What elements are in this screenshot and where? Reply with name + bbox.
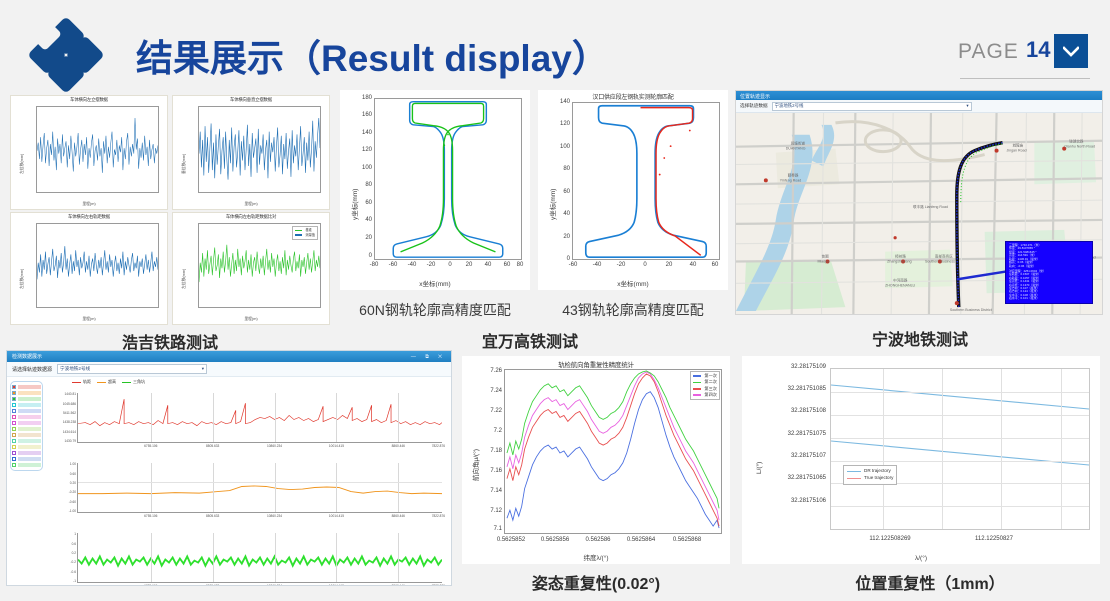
svg-text:钱湖北路: 钱湖北路 xyxy=(1069,139,1084,144)
xtick: 8805.633 xyxy=(206,512,219,518)
checkbox-icon[interactable] xyxy=(12,451,16,455)
plot-axes: 1440.81 1045.686 5411.562 1438.238 1434.… xyxy=(77,393,442,443)
xtick: -40 xyxy=(402,262,422,268)
ytick: 60 xyxy=(352,200,372,206)
xtick: 8805.633 xyxy=(206,582,219,586)
checkbox-icon[interactable] xyxy=(12,427,16,431)
map-select-value: 宁波地铁2号线 xyxy=(775,103,804,109)
svg-text:南部商务区: 南部商务区 xyxy=(935,254,953,259)
ytick: 32.281751085 xyxy=(764,386,826,392)
checkbox-label xyxy=(18,463,42,467)
checkbox-label xyxy=(18,391,42,395)
plot-xlabel: 里程(m) xyxy=(173,317,329,322)
checkbox-label xyxy=(18,427,42,431)
xtick: 6755.106 xyxy=(144,442,157,448)
ytick: 0.20 xyxy=(70,481,78,485)
svg-text:联丰路 Lianfeng Road: 联丰路 Lianfeng Road xyxy=(913,204,948,209)
xtick: 8860.446 xyxy=(392,512,405,518)
plot-axes: DR trajectory True trajectory xyxy=(830,368,1090,530)
ytick: 1 xyxy=(74,532,78,536)
plot-xlabel: λ/(°) xyxy=(742,555,1100,562)
legend-label: 测量值 xyxy=(305,233,315,238)
ytick: 1438.238 xyxy=(63,420,78,424)
checkbox-label xyxy=(18,457,42,461)
page-indicator: PAGE 14 xyxy=(958,34,1098,84)
window-controls[interactable]: — ⧉ ✕ xyxy=(411,354,446,360)
ytick: -1 xyxy=(73,579,78,583)
svg-text:Zhangshuxiang: Zhangshuxiang xyxy=(887,260,911,264)
ytick: 0 xyxy=(352,253,372,259)
xtick: 7822.876 xyxy=(432,582,445,586)
plot-title: 车体横向左右轨距数据 xyxy=(11,214,167,220)
plot-ylabel: 左位移(mm) xyxy=(20,269,25,289)
attitude-repeatability-chart: 轨检航向角重复性精度统计 第一次 第二次 第三次 第四次 航向角μ/(°) 纬度… xyxy=(462,356,730,564)
rail-profile-43: 汉口供应段左钢轨实测轮廓匹配 y坐标(mm) x坐标(mm) 140 120 1… xyxy=(538,90,728,290)
ytick: 40 xyxy=(352,217,372,223)
xtick: 0.5625864 xyxy=(620,537,662,543)
xtick: 112.12250827 xyxy=(954,536,1034,542)
yiwan-caption: 宜万高铁测试 xyxy=(400,328,660,352)
ytick: 7.16 xyxy=(476,468,502,474)
xtick: 7822.876 xyxy=(432,512,445,518)
twist-trace xyxy=(78,533,442,582)
checkbox-label xyxy=(18,439,42,443)
legend-label: 第四次 xyxy=(704,392,717,398)
ytick: 7.22 xyxy=(476,408,502,414)
haoji-chart-1: 车体横向左立摆数据 左位移(mm) 里程(m) xyxy=(10,95,168,210)
ytick: 0.60 xyxy=(70,472,78,476)
checkbox-icon[interactable] xyxy=(12,457,16,461)
legend-label: DR trajectory xyxy=(864,468,891,475)
charts-pane: 轨距 超高 三角坑 1440.81 1045.686 5411.562 1438… xyxy=(47,379,448,583)
plot-title: 车体横向左立摆数据 xyxy=(11,97,167,103)
ytick: 140 xyxy=(548,99,570,105)
plot-area: 车体横向左右轨距数据 左位移(mm) 里程(m) xyxy=(11,213,167,324)
plot-axes xyxy=(374,98,522,260)
xtick: 10860.234 xyxy=(267,512,282,518)
ytick: 80 xyxy=(548,166,570,172)
svg-text:Southern Business District: Southern Business District xyxy=(950,308,992,312)
attitude-caption: 姿态重复性(0.02°) xyxy=(462,570,730,594)
plot-title: 车体横向垂直立摆数据 xyxy=(173,97,329,103)
legend-label: 轨距 xyxy=(83,379,91,384)
plot-axes xyxy=(36,106,159,193)
software-toolbar: 请选择轨迹数据源 宁波地铁2号线 ▾ xyxy=(7,362,451,377)
heading-traces xyxy=(505,370,721,533)
svg-text:城隍庙: 城隍庙 xyxy=(1012,143,1023,148)
detection-data-window: 检测数据展示 — ⧉ ✕ 请选择轨迹数据源 宁波地铁2号线 ▾ xyxy=(6,350,452,586)
svg-text:Miaopu: Miaopu xyxy=(818,260,830,264)
svg-text:ZHONGHENANLU: ZHONGHENANLU xyxy=(885,283,915,287)
haoji-chart-4: 车体横向左右轨距数据比对 左位移(mm) 基准 测量值 里程(m) xyxy=(172,212,330,325)
ytick: 1430.79 xyxy=(64,439,78,443)
xtick: 20 xyxy=(660,262,678,268)
svg-text:樟树路: 樟树路 xyxy=(895,254,906,259)
ytick: 7.12 xyxy=(476,508,502,514)
xtick: 40 xyxy=(478,262,498,268)
slide-header: 结果展示（Result display） PAGE 14 xyxy=(0,0,1110,88)
checkbox-label xyxy=(18,385,42,389)
checkbox-icon[interactable] xyxy=(12,463,16,467)
ytick: 20 xyxy=(548,234,570,240)
ytick: 32.281751075 xyxy=(764,431,826,437)
svg-text:Jingan Road: Jingan Road xyxy=(1007,149,1027,153)
xtick: 10014.415 xyxy=(329,582,344,586)
ytick: -0.60 xyxy=(69,500,78,504)
map-info-tooltip: 三里程：1746.371（米） 纬度：29.8107865 ° 经度：121.5… xyxy=(1005,241,1093,304)
diamond-logo xyxy=(33,22,99,88)
page-number: 14 xyxy=(1026,37,1050,63)
ytick: 32.281751065 xyxy=(764,475,826,481)
xtick: 0.5625856 xyxy=(534,537,576,543)
ningbo-caption: 宁波地铁测试 xyxy=(800,326,1040,350)
position-repeatability-chart: DR trajectory True trajectory L/(°) λ/(°… xyxy=(742,356,1100,564)
svg-text:DUANTANG: DUANTANG xyxy=(786,147,806,151)
chevron-down-icon: ▾ xyxy=(966,103,968,109)
svg-text:中河南路: 中河南路 xyxy=(893,277,908,282)
xtick: 0.562586 xyxy=(577,537,619,543)
map-track-select[interactable]: 宁波地铁2号线 ▾ xyxy=(772,102,972,111)
xtick: 10860.234 xyxy=(267,582,282,586)
checkbox-label xyxy=(18,445,42,449)
ytick: 60 xyxy=(548,189,570,195)
xtick: 7822.876 xyxy=(432,442,445,448)
legend-label: True trajectory xyxy=(864,475,893,482)
ytick: 7.1 xyxy=(476,526,502,532)
checkbox-icon[interactable] xyxy=(12,421,16,425)
software-title-bar: 检测数据展示 — ⧉ ✕ xyxy=(7,351,451,362)
legend-label: 超高 xyxy=(108,379,116,384)
rail-43-caption: 43钢轨轮廓高精度匹配 xyxy=(538,300,728,320)
slide-page: 结果展示（Result display） PAGE 14 车体横向左立摆数据 左… xyxy=(0,0,1110,601)
xtick: 80 xyxy=(512,262,528,268)
ytick: 7.14 xyxy=(476,488,502,494)
ytick: 7.18 xyxy=(476,448,502,454)
subplot-superelevation: 1.00 0.60 0.20 -0.20 -0.60 -1.00 6755.10… xyxy=(47,461,448,523)
plot-area: 车体横向左右轨距数据比对 左位移(mm) 基准 测量值 里程(m) xyxy=(173,213,329,324)
xtick: 60 xyxy=(706,262,724,268)
ytick: 32.28175106 xyxy=(764,498,826,504)
ytick: 7.26 xyxy=(476,368,502,374)
checkbox-label xyxy=(18,397,42,401)
xtick: 20 xyxy=(459,262,479,268)
ytick: 32.28175109 xyxy=(764,364,826,370)
plot-axes: 基准 测量值 xyxy=(198,223,321,308)
checkbox-label xyxy=(18,409,42,413)
checkbox-icon[interactable] xyxy=(12,439,16,443)
page-label: PAGE xyxy=(958,40,1019,64)
checkbox-icon[interactable] xyxy=(12,409,16,413)
checkbox-item[interactable] xyxy=(12,462,41,468)
ytick: 140 xyxy=(352,130,372,136)
ytick: 100 xyxy=(548,144,570,150)
info-line: 右水平：0.101（毫米） xyxy=(1009,297,1089,300)
plot-xlabel: x坐标(mm) xyxy=(340,278,530,288)
chevron-down-icon: ▾ xyxy=(202,366,204,372)
plot-axes: 1 0.6 0.2 -0.2 -0.6 -1 6755.106 8805.633… xyxy=(77,533,442,583)
svg-text:鄞奉路: 鄞奉路 xyxy=(788,172,799,177)
plot-axes xyxy=(36,223,159,308)
ytick: 0.2 xyxy=(72,551,78,555)
checkbox-icon[interactable] xyxy=(12,445,16,449)
svg-text:段塘街道: 段塘街道 xyxy=(791,141,806,146)
map-select-label: 选择轨迹数据 xyxy=(740,103,768,109)
plot-title: 车体横向左右轨距数据比对 xyxy=(173,214,329,220)
plot-ylabel: 左位移(mm) xyxy=(182,269,187,289)
ytick: 5411.562 xyxy=(63,411,78,415)
xtick: -80 xyxy=(364,262,384,268)
xtick: 112.122508269 xyxy=(850,536,930,542)
xtick: -40 xyxy=(588,262,606,268)
plot-title: 轨检航向角重复性精度统计 xyxy=(462,359,730,369)
plot-xlabel: x坐标(mm) xyxy=(538,278,728,288)
xtick: 8860.446 xyxy=(392,582,405,586)
noise-trace xyxy=(37,224,158,307)
xtick: 6755.106 xyxy=(144,582,157,586)
software-select-value: 宁波地铁2号线 xyxy=(60,366,90,372)
xtick: 0.5625852 xyxy=(490,537,532,543)
legend-item: 超高 xyxy=(97,379,116,385)
plot-area: 车体横向垂直立摆数据 垂位移(mm) 里程(m) xyxy=(173,96,329,209)
rail-profile-60n: y坐标(mm) x坐标(mm) 180 160 140 120 100 80 6… xyxy=(340,90,530,290)
xtick: -20 xyxy=(421,262,441,268)
chart-legend: 轨距 超高 三角坑 xyxy=(72,379,145,385)
noise-trace xyxy=(199,107,320,192)
ytick: 180 xyxy=(352,95,372,101)
ytick: 160 xyxy=(352,112,372,118)
ytick: 100 xyxy=(352,165,372,171)
xtick: 8805.633 xyxy=(206,442,219,448)
legend-item: 三角坑 xyxy=(122,379,145,385)
map-toolbar: 选择轨迹数据 宁波地铁2号线 ▾ xyxy=(736,100,1102,113)
legend-item: 轨距 xyxy=(72,379,91,385)
plot-legend: 基准 测量值 xyxy=(292,226,318,240)
checkbox-icon[interactable] xyxy=(12,433,16,437)
xtick: 40 xyxy=(684,262,702,268)
ytick: 1045.686 xyxy=(63,402,78,406)
page-title: 结果展示（Result display） xyxy=(136,28,609,82)
ytick: 1.00 xyxy=(70,462,78,466)
svg-text:苗圃: 苗圃 xyxy=(822,254,830,259)
map-canvas[interactable]: 鄞奉路Yinfeng Road 段塘街道DUANTANG 城隍庙Jingan R… xyxy=(736,113,1102,314)
page-rule xyxy=(960,78,1090,79)
plot-legend: DR trajectory True trajectory xyxy=(843,465,897,485)
rail-60n-caption: 60N钢轨轮廓高精度匹配 xyxy=(340,300,530,320)
plot-legend: 第一次 第二次 第三次 第四次 xyxy=(690,371,720,400)
plot-axes xyxy=(198,106,321,193)
ytick: 1440.81 xyxy=(64,392,78,396)
ytick: 32.28175107 xyxy=(764,453,826,459)
rail-section-curves xyxy=(375,99,521,259)
plot-area: 车体横向左立摆数据 左位移(mm) 里程(m) xyxy=(11,96,167,209)
superelevation-trace xyxy=(78,463,442,512)
software-select-label: 请选择轨迹数据源 xyxy=(12,366,52,373)
checkbox-icon[interactable] xyxy=(12,403,16,407)
subplot-gauge: 1440.81 1045.686 5411.562 1438.238 1434.… xyxy=(47,391,448,453)
plot-axes: 1.00 0.60 0.20 -0.20 -0.60 -1.00 6755.10… xyxy=(77,463,442,513)
plot-xlabel: 里程(m) xyxy=(11,317,167,322)
ytick: -0.2 xyxy=(71,560,79,564)
plot-ylabel: 左位移(mm) xyxy=(20,154,25,174)
xtick: -60 xyxy=(383,262,403,268)
checkbox-icon[interactable] xyxy=(12,415,16,419)
gauge-trace xyxy=(78,393,442,442)
checkbox-icon[interactable] xyxy=(12,385,16,389)
plot-xlabel: 纬度λ/(°) xyxy=(462,552,730,562)
svg-text:Southern Business: Southern Business xyxy=(925,260,955,264)
ytick: 20 xyxy=(352,235,372,241)
rail-section-curves xyxy=(573,103,719,259)
ytick: 1434.614 xyxy=(63,430,78,434)
xtick: 10014.415 xyxy=(329,442,344,448)
plot-xlabel: 里程(m) xyxy=(11,202,167,207)
haoji-chart-2: 车体横向垂直立摆数据 垂位移(mm) 里程(m) xyxy=(172,95,330,210)
plot-axes xyxy=(572,102,720,260)
chevron-down-icon[interactable] xyxy=(1054,34,1088,68)
ytick: -1.00 xyxy=(69,509,78,513)
xtick: 0 xyxy=(636,262,654,268)
checkbox-label xyxy=(18,451,42,455)
ytick: 0.6 xyxy=(72,542,78,546)
xtick: 6755.106 xyxy=(144,512,157,518)
software-window-title: 检测数据展示 xyxy=(12,353,42,360)
noise-trace xyxy=(37,107,158,192)
position-caption: 位置重复性（1mm） xyxy=(820,570,1040,594)
xtick: 0.5625868 xyxy=(666,537,708,543)
xtick: -60 xyxy=(564,262,582,268)
ytick: 7.24 xyxy=(476,388,502,394)
checkbox-label xyxy=(18,415,42,419)
xtick: 8860.446 xyxy=(392,442,405,448)
ytick: -0.20 xyxy=(69,490,78,494)
trajectory-lines xyxy=(831,369,1089,529)
plot-xlabel: 里程(m) xyxy=(173,202,329,207)
ytick: -0.6 xyxy=(71,570,79,574)
xtick: 0 xyxy=(440,262,460,268)
map-window-title: 位置轨迹显示 xyxy=(736,91,1102,100)
plot-ylabel: 垂位移(mm) xyxy=(182,154,187,174)
checkbox-label xyxy=(18,421,42,425)
ytick: 32.28175108 xyxy=(764,408,826,414)
subplot-twist: 1 0.6 0.2 -0.2 -0.6 -1 6755.106 8805.633… xyxy=(47,531,448,586)
ytick: 120 xyxy=(548,121,570,127)
haoji-chart-3: 车体横向左右轨距数据 左位移(mm) 里程(m) xyxy=(10,212,168,325)
xtick: -20 xyxy=(612,262,630,268)
xtick: 10860.234 xyxy=(267,442,282,448)
ytick: 80 xyxy=(352,182,372,188)
plot-axes: 第一次 第二次 第三次 第四次 xyxy=(504,369,722,534)
software-track-select[interactable]: 宁波地铁2号线 ▾ xyxy=(57,364,207,374)
ytick: 120 xyxy=(352,147,372,153)
checkbox-label xyxy=(18,433,42,437)
checkbox-label xyxy=(18,403,42,407)
xtick: 10014.415 xyxy=(329,512,344,518)
plot-ylabel: L/(°) xyxy=(756,462,763,474)
parameter-checkbox-list[interactable] xyxy=(10,381,43,471)
ytick: 7.2 xyxy=(476,428,502,434)
legend-label: 三角坑 xyxy=(133,379,145,384)
svg-text:Qianhu North Road: Qianhu North Road xyxy=(1064,145,1095,149)
checkbox-icon[interactable] xyxy=(12,391,16,395)
ytick: 40 xyxy=(548,211,570,217)
svg-text:Yinfeng Road: Yinfeng Road xyxy=(780,178,802,182)
checkbox-icon[interactable] xyxy=(12,397,16,401)
ningbo-map-window: 位置轨迹显示 选择轨迹数据 宁波地铁2号线 ▾ xyxy=(735,90,1103,315)
